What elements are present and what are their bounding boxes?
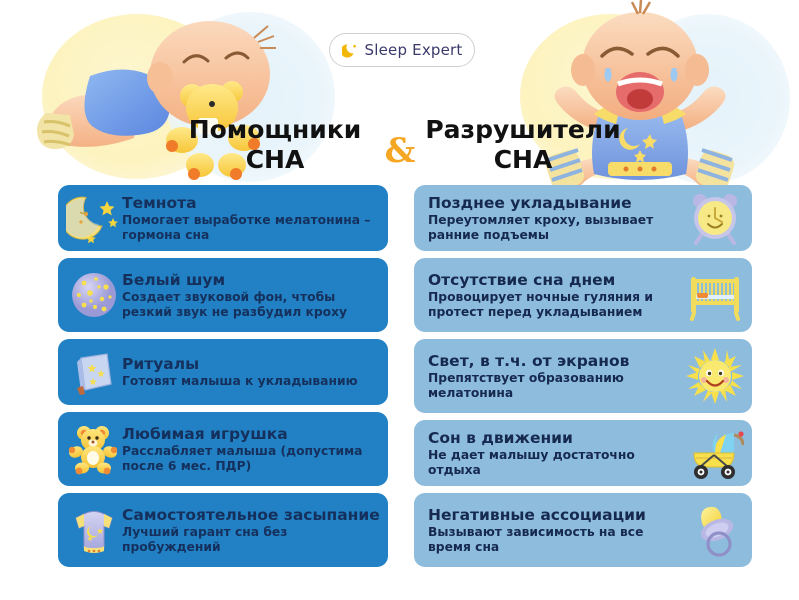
alarm-clock-icon: [686, 190, 744, 246]
helper-title: Любимая игрушка: [122, 425, 378, 444]
destroyer-desc: Переутомляет кроху, вызывает ранние подъ…: [428, 213, 686, 243]
book-icon: [66, 344, 122, 400]
destroyer-card-no-daytime-sleep-body: Отсутствие сна днем Провоцирует ночные г…: [428, 271, 686, 320]
helper-desc: Готовят малыша к укладыванию: [122, 374, 378, 389]
title-helpers-line2: СНА: [160, 145, 390, 175]
title-helpers-line1: Помощники: [160, 115, 390, 145]
destroyer-card-light[interactable]: Свет, в т.ч. от экранов Препятствует обр…: [414, 339, 752, 413]
destroyer-card-sleep-on-the-go[interactable]: Сон в движении Не дает малышу достаточно…: [414, 420, 752, 486]
helper-card-rituals[interactable]: Ритуалы Готовят малыша к укладыванию: [58, 339, 388, 405]
destroyer-desc: Вызывают зависимость на все время сна: [428, 525, 686, 555]
helper-title: Белый шум: [122, 271, 378, 290]
sun-icon: [686, 348, 744, 404]
helper-card-favourite-toy-body: Любимая игрушка Расслабляет малыша (допу…: [122, 425, 378, 474]
helper-title: Самостоятельное засыпание: [122, 506, 378, 525]
helper-desc: Расслабляет малыша (допустима после 6 ме…: [122, 444, 378, 474]
helper-card-self-soothing-body: Самостоятельное засыпание Лучший гарант …: [122, 506, 378, 555]
destroyer-desc: Не дает малышу достаточно отдыха: [428, 448, 686, 478]
title-destroyers-line2: СНА: [408, 145, 638, 175]
pacifier-icon: [686, 502, 744, 558]
stroller-icon: [686, 425, 744, 481]
helpers-column: Темнота Помогает выработке мелатонина – …: [58, 185, 388, 574]
logo[interactable]: Sleep Expert: [329, 33, 475, 67]
destroyers-column: Позднее укладывание Переутомляет кроху, …: [414, 185, 752, 574]
page-title-helpers: Помощники СНА: [160, 115, 390, 175]
destroyer-card-no-daytime-sleep[interactable]: Отсутствие сна днем Провоцирует ночные г…: [414, 258, 752, 332]
helper-card-white-noise-body: Белый шум Создает звуковой фон, чтобы ре…: [122, 271, 378, 320]
helper-desc: Помогает выработке мелатонина – гормона …: [122, 213, 378, 243]
helper-title: Ритуалы: [122, 355, 378, 374]
helper-card-self-soothing[interactable]: Самостоятельное засыпание Лучший гарант …: [58, 493, 388, 567]
destroyer-card-negative-associations[interactable]: Негативные ассоциации Вызывают зависимос…: [414, 493, 752, 567]
moon-stars-icon: [66, 190, 122, 246]
crib-icon: [686, 267, 744, 323]
helper-card-favourite-toy[interactable]: Любимая игрушка Расслабляет малыша (допу…: [58, 412, 388, 486]
destroyer-card-late-bedtime-body: Позднее укладывание Переутомляет кроху, …: [428, 194, 686, 243]
destroyer-title: Отсутствие сна днем: [428, 271, 686, 290]
destroyer-card-sleep-on-the-go-body: Сон в движении Не дает малышу достаточно…: [428, 429, 686, 478]
page-title-destroyers: Разрушители СНА: [408, 115, 638, 175]
helper-card-darkness-body: Темнота Помогает выработке мелатонина – …: [122, 194, 378, 243]
destroyer-card-light-body: Свет, в т.ч. от экранов Препятствует обр…: [428, 352, 686, 401]
helper-card-rituals-body: Ритуалы Готовят малыша к укладыванию: [122, 355, 378, 389]
infographic-root: Sleep Expert Помощники СНА & Разрушители…: [0, 0, 799, 600]
helper-card-white-noise[interactable]: Белый шум Создает звуковой фон, чтобы ре…: [58, 258, 388, 332]
destroyer-title: Свет, в т.ч. от экранов: [428, 352, 686, 371]
destroyer-title: Негативные ассоциации: [428, 506, 686, 525]
destroyer-card-negative-associations-body: Негативные ассоциации Вызывают зависимос…: [428, 506, 686, 555]
destroyer-card-late-bedtime[interactable]: Позднее укладывание Переутомляет кроху, …: [414, 185, 752, 251]
baby-onesie-icon: [66, 502, 122, 558]
crescent-moon-icon: [342, 42, 358, 58]
destroyer-desc: Провоцирует ночные гуляния и протест пер…: [428, 290, 686, 320]
destroyer-title: Сон в движении: [428, 429, 686, 448]
helper-desc: Создает звуковой фон, чтобы резкий звук …: [122, 290, 378, 320]
title-destroyers-line1: Разрушители: [408, 115, 638, 145]
helper-title: Темнота: [122, 194, 378, 213]
teddy-bear-icon: [66, 421, 122, 477]
destroyer-title: Позднее укладывание: [428, 194, 686, 213]
starry-sphere-icon: [66, 267, 122, 323]
helper-card-darkness[interactable]: Темнота Помогает выработке мелатонина – …: [58, 185, 388, 251]
destroyer-desc: Препятствует образованию мелатонина: [428, 371, 686, 401]
helper-desc: Лучший гарант сна без пробуждений: [122, 525, 378, 555]
logo-text: Sleep Expert: [365, 41, 463, 59]
